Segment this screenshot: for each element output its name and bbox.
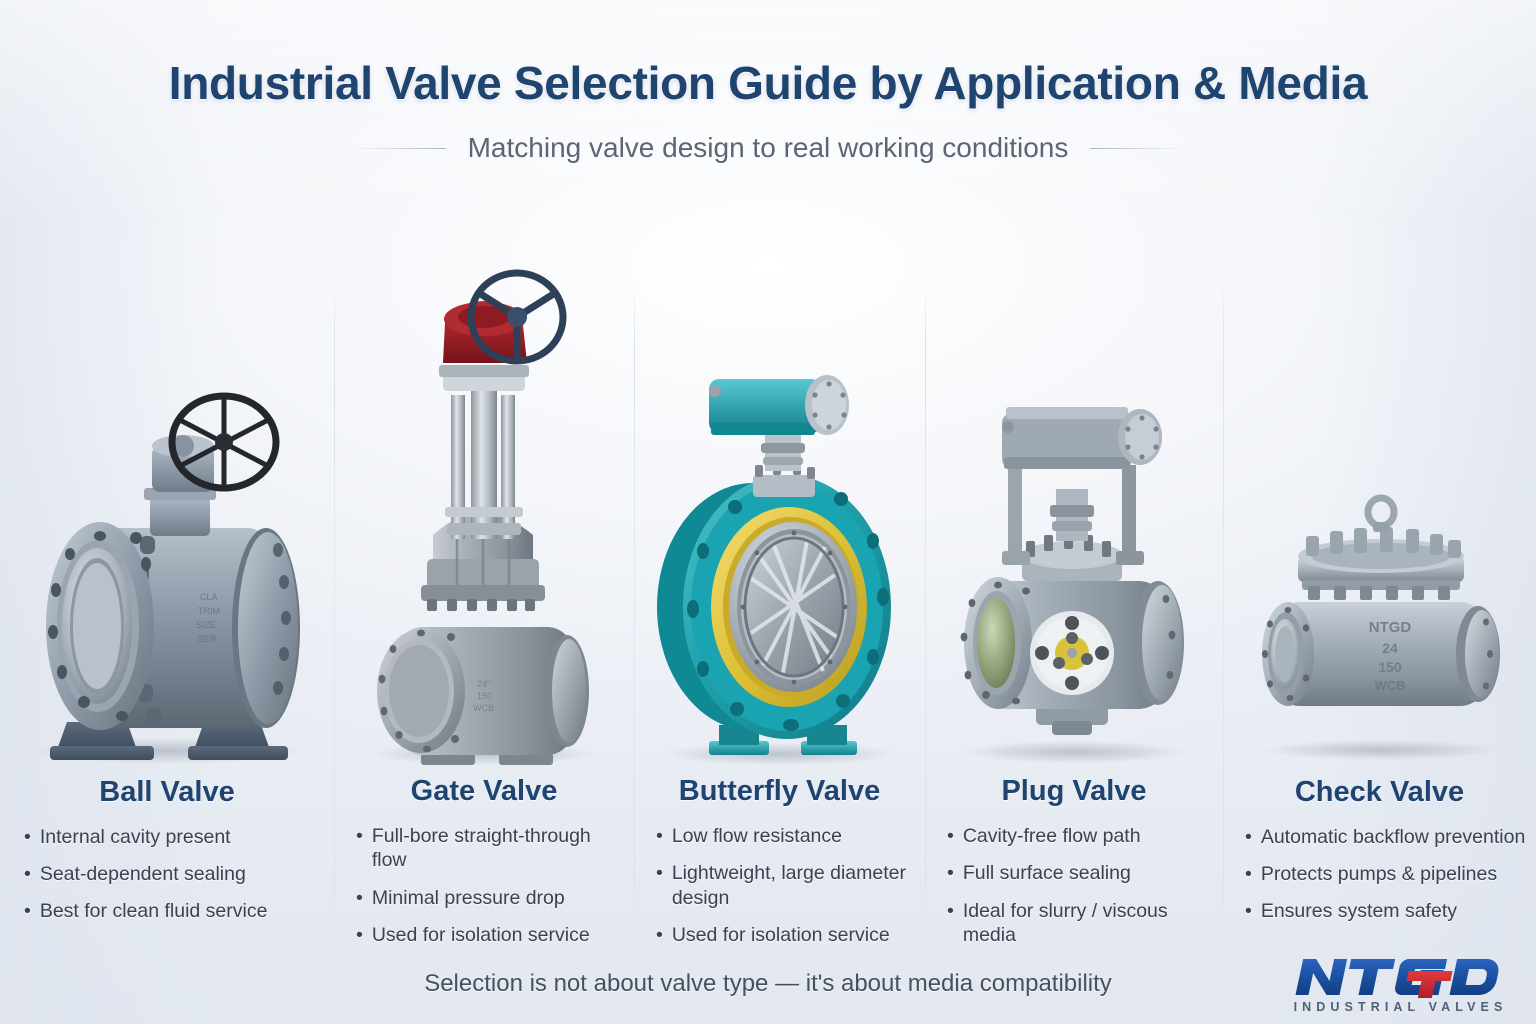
bullet-marker: • (656, 923, 663, 947)
valve-caption: Ball Valve (0, 776, 334, 809)
bullet-text: Seat-dependent sealing (40, 862, 246, 886)
bullet-item: • Automatic backflow prevention (1245, 825, 1532, 849)
bullet-marker: • (24, 899, 31, 923)
butterfly-valve-illustration (645, 357, 915, 777)
svg-text:TRIM: TRIM (198, 606, 220, 616)
bullet-item: • Full surface sealing (947, 861, 1217, 885)
svg-text:24": 24" (477, 679, 490, 689)
ball-valve-illustration: CLATRIM SIZESER (12, 350, 322, 770)
svg-text:CLA: CLA (200, 592, 218, 602)
bullet-item: • Ideal for slurry / viscous media (947, 899, 1217, 947)
bullet-marker: • (1245, 825, 1252, 849)
valve-bullets: • Cavity-free flow path • Full surface s… (925, 824, 1223, 960)
bullet-marker: • (1245, 899, 1252, 923)
cast-mark-brand: NTGD (1368, 619, 1411, 636)
bullet-text: Ensures system safety (1261, 899, 1457, 923)
bullet-marker: • (656, 824, 663, 848)
valve-caption: Check Valve (1223, 776, 1536, 809)
subtitle-rule-left (350, 148, 446, 149)
valve-bullets: • Full-bore straight-through flow • Mini… (334, 824, 634, 960)
infographic-header: Industrial Valve Selection Guide by Appl… (0, 0, 1536, 164)
bullet-marker: • (24, 825, 31, 849)
check-valve-illustration: NTGD 24 150 WCB (1240, 482, 1520, 752)
gate-valve-image: 24"150WCB (334, 270, 634, 769)
bullet-item: • Internal cavity present (24, 825, 316, 849)
plug-valve-image (925, 270, 1223, 769)
bullet-item: • Used for isolation service (356, 923, 626, 947)
cast-mark-material: WCB (1374, 678, 1405, 693)
bullet-item: • Ensures system safety (1245, 899, 1532, 923)
valve-bullets: • Automatic backflow prevention • Protec… (1223, 825, 1536, 937)
valve-columns: CLATRIM SIZESER Ball Valve • Internal ca… (0, 270, 1536, 960)
bullet-text: Lightweight, large diameter design (672, 861, 919, 909)
plug-valve-illustration (944, 385, 1204, 765)
bullet-item: • Low flow resistance (656, 824, 919, 848)
svg-text:150: 150 (477, 691, 492, 701)
company-logo: INDUSTRIAL VALVES (1282, 955, 1514, 1014)
bullet-item: • Protects pumps & pipelines (1245, 862, 1532, 886)
bullet-text: Minimal pressure drop (372, 886, 565, 910)
bullet-marker: • (356, 923, 363, 947)
butterfly-valve-image (634, 270, 925, 769)
valve-caption: Butterfly Valve (634, 775, 925, 808)
cast-mark-size: 24 (1382, 640, 1398, 656)
bullet-text: Used for isolation service (672, 923, 890, 947)
bullet-text: Cavity-free flow path (963, 824, 1141, 848)
bullet-text: Low flow resistance (672, 824, 842, 848)
logo-tagline: INDUSTRIAL VALVES (1282, 1000, 1514, 1014)
ball-valve-image: CLATRIM SIZESER (0, 270, 334, 770)
bullet-item: • Lightweight, large diameter design (656, 861, 919, 909)
bullet-marker: • (356, 824, 363, 872)
gate-valve-illustration: 24"150WCB (359, 267, 609, 787)
svg-text:WCB: WCB (473, 703, 494, 713)
bullet-marker: • (24, 862, 31, 886)
bullet-text: Full-bore straight-through flow (372, 824, 626, 872)
column-plug-valve: Plug Valve • Cavity-free flow path • Ful… (925, 270, 1223, 960)
bullet-marker: • (947, 824, 954, 848)
cast-mark-class: 150 (1378, 659, 1402, 675)
column-butterfly-valve: Butterfly Valve • Low flow resistance • … (634, 270, 925, 960)
svg-text:SER: SER (198, 634, 217, 644)
logo-wordmark (1282, 955, 1514, 999)
page-subtitle: Matching valve design to real working co… (468, 132, 1069, 164)
bullet-text: Ideal for slurry / viscous media (963, 899, 1217, 947)
bullet-text: Protects pumps & pipelines (1261, 862, 1497, 886)
bullet-item: • Full-bore straight-through flow (356, 824, 626, 872)
bullet-marker: • (947, 899, 954, 947)
bullet-marker: • (656, 861, 663, 909)
bullet-text: Full surface sealing (963, 861, 1131, 885)
bullet-item: • Cavity-free flow path (947, 824, 1217, 848)
valve-bullets: • Internal cavity present • Seat-depende… (0, 825, 334, 937)
valve-caption: Plug Valve (925, 775, 1223, 808)
bullet-text: Automatic backflow prevention (1261, 825, 1525, 849)
column-ball-valve: CLATRIM SIZESER Ball Valve • Internal ca… (0, 270, 334, 960)
bullet-item: • Used for isolation service (656, 923, 919, 947)
column-gate-valve: 24"150WCB Gate Valve • Full-bore straigh… (334, 270, 634, 960)
valve-bullets: • Low flow resistance • Lightweight, lar… (634, 824, 925, 960)
subtitle-rule-right (1090, 148, 1186, 149)
bullet-item: • Seat-dependent sealing (24, 862, 316, 886)
subtitle-row: Matching valve design to real working co… (0, 132, 1536, 164)
bullet-item: • Best for clean fluid service (24, 899, 316, 923)
bullet-text: Best for clean fluid service (40, 899, 268, 923)
check-valve-image: NTGD 24 150 WCB (1223, 270, 1536, 770)
column-check-valve: NTGD 24 150 WCB Check Valve • Automatic … (1223, 270, 1536, 960)
bullet-marker: • (356, 886, 363, 910)
page-title: Industrial Valve Selection Guide by Appl… (0, 56, 1536, 110)
bullet-text: Used for isolation service (372, 923, 590, 947)
bullet-item: • Minimal pressure drop (356, 886, 626, 910)
bullet-marker: • (1245, 862, 1252, 886)
bullet-text: Internal cavity present (40, 825, 231, 849)
bullet-marker: • (947, 861, 954, 885)
svg-text:SIZE: SIZE (196, 620, 216, 630)
